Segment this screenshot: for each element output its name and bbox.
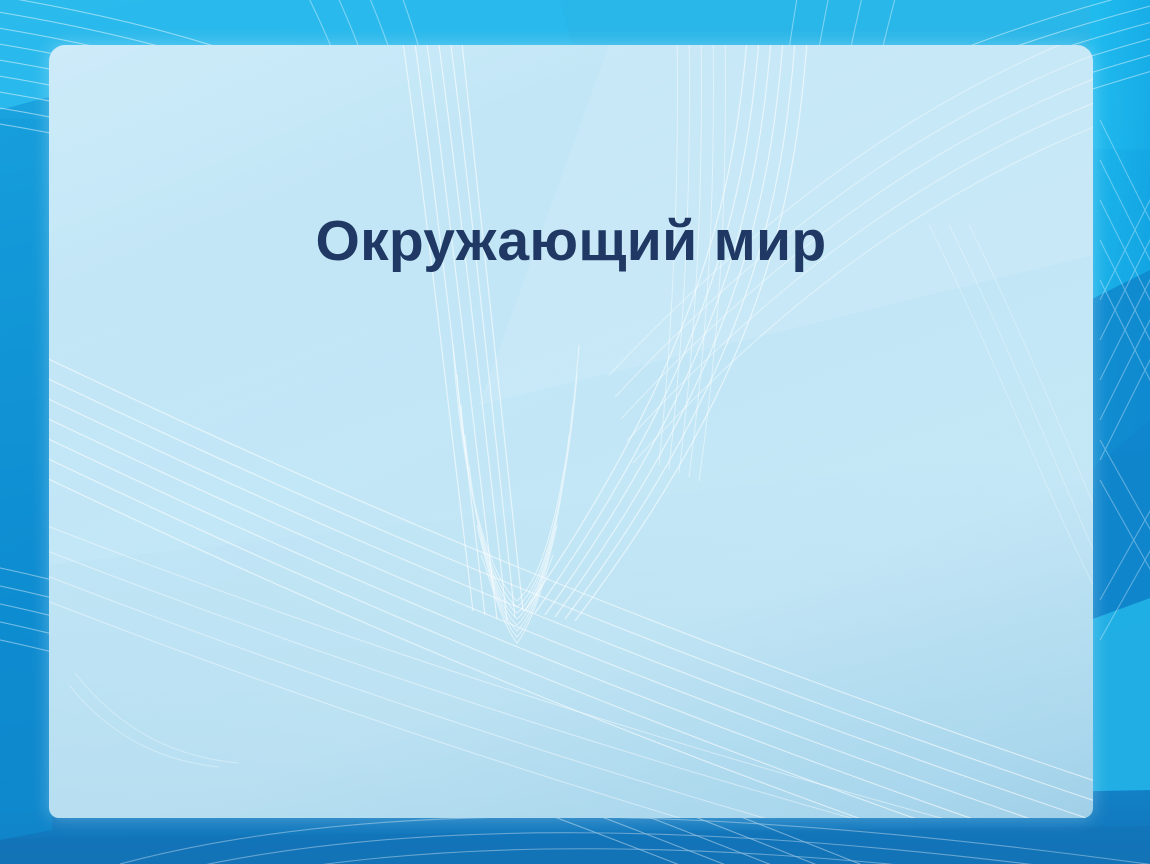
panel-decoration-art [49,45,1093,818]
presentation-slide: Окружающий мир [0,0,1150,864]
slide-content-panel [49,45,1093,818]
